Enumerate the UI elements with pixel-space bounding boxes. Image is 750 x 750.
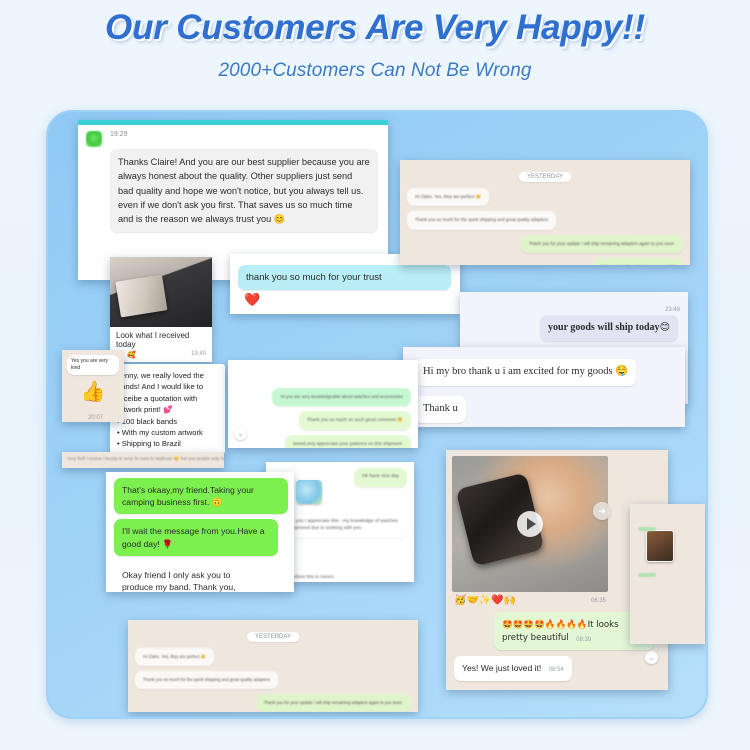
message-bubble: Thanks Claire! And you are our best supp… [110, 149, 378, 232]
thumbs-up-icon: 👍 [62, 375, 124, 403]
card-quote-request[interactable]: Jenny, we really loved the bands! And I … [110, 364, 225, 454]
nice-day-out: Ok have nice day [354, 468, 407, 487]
page-title: Our Customers Are Very Happy!! [0, 8, 750, 48]
photo-caption: Look what I received today [110, 327, 212, 351]
knowledge-highlight: Hi you are very knowledgeable about watc… [272, 388, 411, 406]
card-adapter-chat-top[interactable]: YESTERDAY Hi Claire. Yes, they are perfe… [400, 160, 690, 265]
ship-time-top: 23:48 [665, 307, 680, 313]
adapter2-line-2: Thank you so much for the quick shipping… [135, 671, 278, 689]
excited-message: Hi my bro thank u i am excited for my go… [415, 359, 636, 386]
card-camping-chat[interactable]: That's okaay,my friend.Taking your campi… [106, 472, 294, 592]
card-excited-goods[interactable]: Hi my bro thank u i am excited for my go… [403, 347, 685, 427]
scroll-down-icon[interactable]: ⌄ [645, 651, 658, 664]
chat-timestamp: 19:29 [110, 131, 128, 138]
play-icon[interactable] [517, 511, 543, 537]
page-root: Our Customers Are Very Happy!! 2000+Cust… [0, 0, 750, 750]
card-watches-knowledge[interactable]: Hi you are very knowledgeable about watc… [228, 360, 418, 448]
knowledge-msg-2: Sweet,very appreciate your patience on t… [285, 435, 411, 448]
very-kind-time: 20:07 [88, 415, 103, 421]
adapter-line-4: Did you test the adapters on your job? [593, 258, 683, 265]
card-received-today[interactable]: Look what I received today 🤩 🥰 19:40 [110, 257, 212, 362]
video-reactions: 🥳🤝✨❤️🙌 [454, 595, 516, 606]
review-reply-time: 08:54 [549, 667, 564, 673]
camping-green-2: I'll wait the message from you.Have a go… [114, 519, 278, 555]
adapter2-line-3: Thank you for your update ! will ship re… [256, 694, 411, 712]
card-very-kind[interactable]: Yes you are very kind 👍 20:07 [62, 350, 124, 422]
photo-bands [110, 257, 212, 327]
ship-message: your goods will ship today [548, 322, 660, 333]
avatar [86, 131, 102, 147]
review-time: 08:39 [576, 637, 591, 643]
testimonial-board: 19:29 Thanks Claire! And you are our bes… [46, 110, 708, 719]
adapter-line-2: Thank you so much for the quick shipping… [407, 211, 556, 229]
adapter-line-3: Thank you for your update ! will ship re… [521, 235, 683, 253]
page-header: Our Customers Are Very Happy!! 2000+Cust… [0, 8, 750, 82]
thanku-message: Thank u [415, 396, 466, 423]
day-divider-2: YESTERDAY [247, 632, 299, 642]
knowledge-msg-1: Thank you so much on such good comment 🤗 [299, 411, 411, 430]
review-reply: Yes! We just loved it! [462, 663, 541, 673]
card-footer-note[interactable]: Very fluff / Amina / house is very! fu r… [62, 452, 224, 468]
video-time: 06:35 [591, 598, 606, 604]
adapter2-line-1: Hi Claire. Yes, they are perfect 😊 [135, 648, 214, 666]
card-right-strip[interactable] [630, 504, 705, 644]
footer-note-text: Very fluff / Amina / house is very! fu r… [62, 452, 224, 466]
heart-reaction: ❤️ [230, 291, 460, 308]
very-kind-message: Yes you are very kind [67, 355, 119, 375]
ship-emoji: 😊 [660, 322, 670, 333]
chevron-down-icon[interactable]: ⌄ [234, 427, 247, 440]
page-subtitle: 2000+Customers Can Not Be Wrong [0, 60, 750, 82]
reply-bubble: thank you so much for your trust [238, 265, 451, 290]
card-adapter-chat-bottom[interactable]: YESTERDAY Hi Claire. Yes, they are perfe… [128, 620, 418, 712]
day-divider: YESTERDAY [519, 172, 571, 182]
caption-time: 19:40 [191, 351, 206, 359]
forward-arrow-icon[interactable]: ➜ [593, 502, 611, 520]
review-text: 🤩🤩🤩🤩🔥🔥🔥🔥It looks pretty beautiful [502, 620, 619, 643]
camping-white-1: Okay friend I only ask you to produce my… [114, 563, 268, 592]
adapter-line-1: Hi Claire. Yes, they are perfect 😊 [407, 188, 489, 206]
quote-message: Jenny, we really loved the bands! And I … [110, 364, 225, 454]
sticker-icon [296, 480, 322, 504]
photo-watch [452, 456, 608, 592]
camping-green-1: That's okaay,my friend.Taking your campi… [114, 478, 288, 514]
